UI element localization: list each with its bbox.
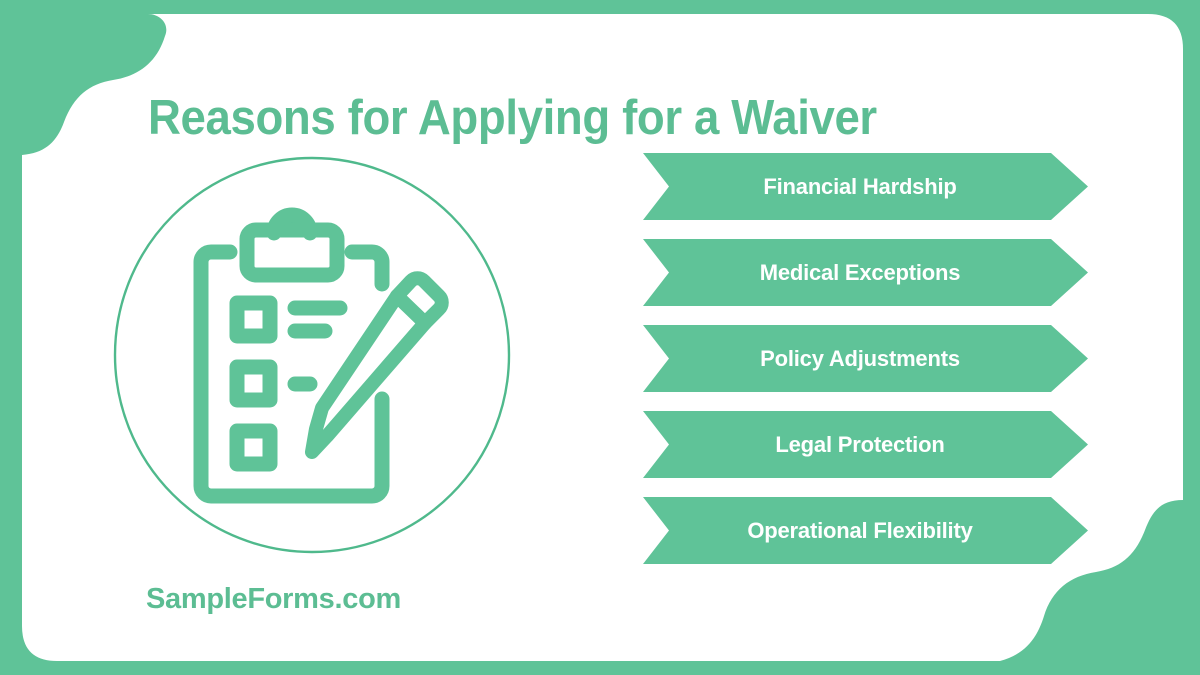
reason-label-2: Medical Exceptions: [669, 239, 1051, 306]
list-item[interactable]: Financial Hardship: [643, 153, 1088, 220]
pencil-body: [312, 296, 425, 452]
reasons-list: Financial Hardship Medical Exceptions Po…: [643, 153, 1088, 565]
infographic-canvas: Reasons for Applying for a Waiver: [0, 0, 1200, 675]
list-item[interactable]: Medical Exceptions: [643, 239, 1088, 306]
page-title: Reasons for Applying for a Waiver: [148, 87, 1041, 149]
pencil-ferrule: [397, 278, 442, 323]
checkbox-2: [237, 367, 270, 400]
brand-footer: SampleForms.com: [146, 583, 401, 616]
reason-label-4: Legal Protection: [669, 411, 1051, 478]
checkbox-3: [237, 431, 270, 464]
checkbox-1: [237, 303, 270, 336]
list-item[interactable]: Operational Flexibility: [643, 497, 1088, 564]
list-item[interactable]: Legal Protection: [643, 411, 1088, 478]
reason-label-5: Operational Flexibility: [669, 497, 1051, 564]
reason-label-1: Financial Hardship: [669, 153, 1051, 220]
list-item[interactable]: Policy Adjustments: [643, 325, 1088, 392]
reason-label-3: Policy Adjustments: [669, 325, 1051, 392]
clipboard-checklist-pencil-icon: [112, 156, 512, 556]
